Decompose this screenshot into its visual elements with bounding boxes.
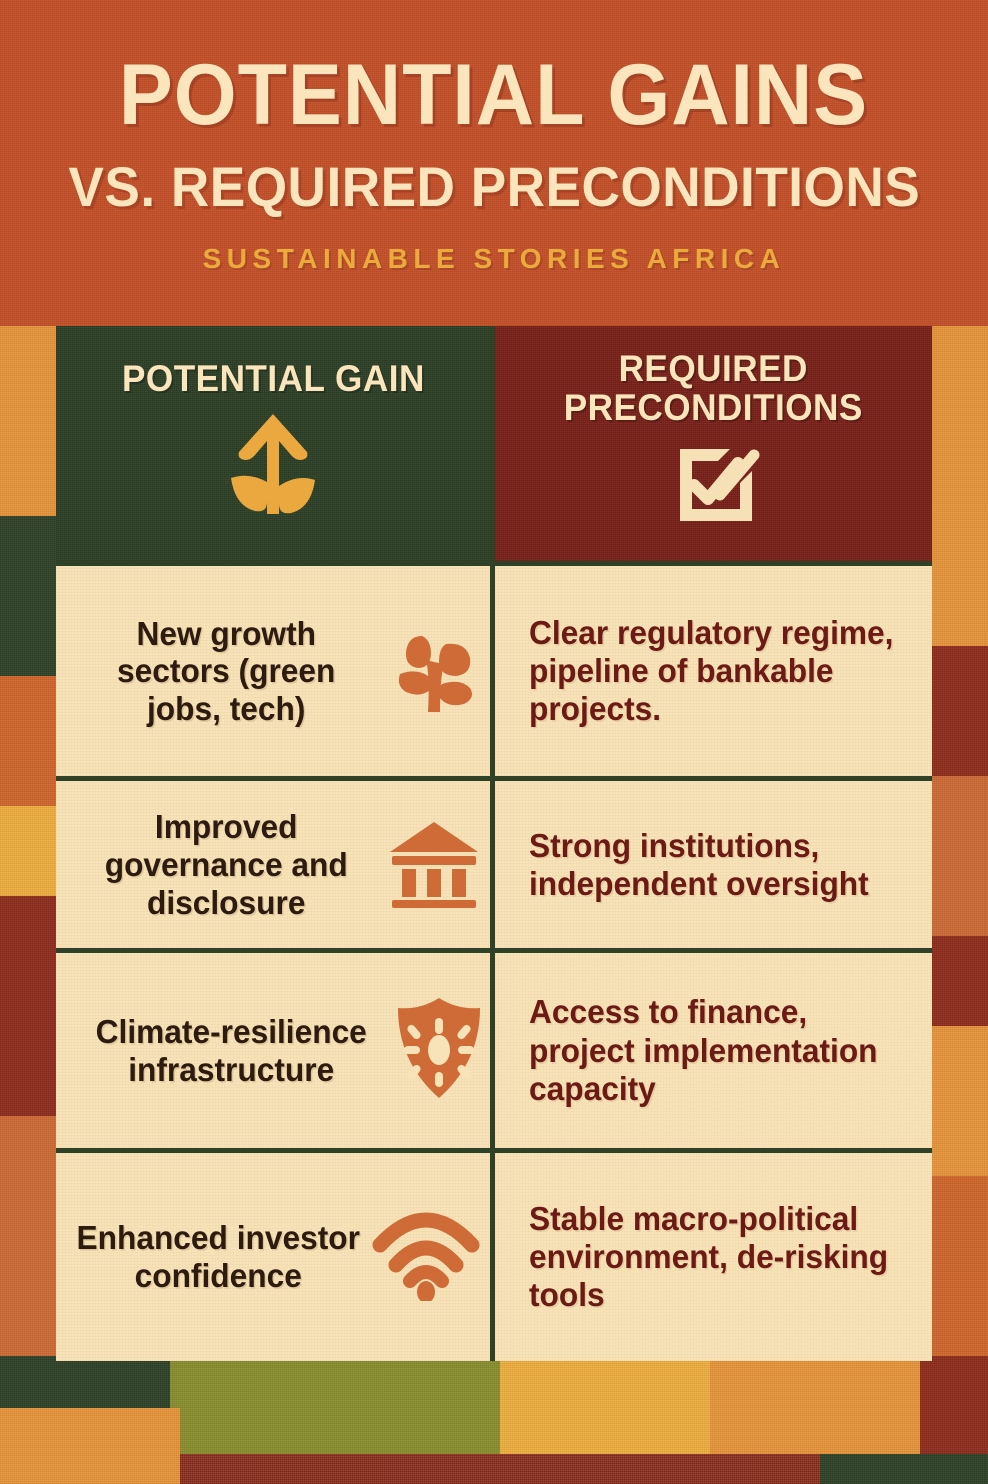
gain-cell: Climate-resilience infrastructure — [56, 953, 490, 1148]
page-title-line2: VS. REQUIRED PRECONDITIONS — [68, 159, 920, 215]
precondition-text: Stable macro-political environment, de-r… — [529, 1200, 902, 1315]
kente-tile — [932, 646, 988, 776]
kente-tile — [0, 516, 56, 676]
kente-tile — [932, 1176, 988, 1356]
gain-text: Improved governance and disclosure — [76, 808, 376, 921]
kente-tile — [0, 806, 56, 896]
comparison-table: POTENTIAL GAIN REQUIRED PRECONDITIONS — [56, 326, 932, 1361]
kente-tile — [0, 1116, 56, 1196]
kente-tile — [920, 1356, 988, 1454]
kente-tile — [180, 1454, 820, 1484]
checklist-checkbox-pencil-icon — [668, 439, 760, 536]
column-header-potential-gain: POTENTIAL GAIN — [56, 326, 491, 561]
kente-tile — [0, 326, 56, 516]
precondition-cell: Access to finance, project implementatio… — [495, 953, 932, 1148]
table-row: Climate-resilience infrastructure — [56, 953, 932, 1148]
kente-tile — [330, 1356, 500, 1454]
table-row: Enhanced investor confidence — [56, 1153, 932, 1361]
column-header-label: REQUIRED PRECONDITIONS — [506, 350, 921, 427]
growth-arrow-sprout-icon — [221, 410, 325, 527]
institution-bank-icon — [386, 816, 482, 913]
wifi-signal-icon — [370, 1209, 482, 1306]
precondition-cell: Clear regulatory regime, pipeline of ban… — [495, 566, 932, 777]
precondition-text: Clear regulatory regime, pipeline of ban… — [529, 614, 902, 729]
kente-tile — [0, 1408, 180, 1484]
kente-tile — [932, 936, 988, 1026]
kente-tile — [0, 1006, 56, 1116]
sprout-leaves-icon — [386, 620, 482, 721]
precondition-cell: Stable macro-political environment, de-r… — [495, 1153, 932, 1361]
kente-tile — [500, 1356, 710, 1454]
kente-tile — [170, 1356, 330, 1454]
kente-tile — [932, 326, 988, 396]
gain-cell: Improved governance and disclosure — [56, 781, 490, 948]
kente-tile — [0, 896, 56, 1006]
page-subtitle: SUSTAINABLE STORIES AFRICA — [203, 243, 786, 275]
kente-tile — [0, 1356, 60, 1408]
kente-tile — [932, 526, 988, 646]
kente-tile — [932, 1026, 988, 1176]
precondition-cell: Strong institutions, independent oversig… — [495, 781, 932, 948]
gain-cell: Enhanced investor confidence — [56, 1153, 490, 1361]
gain-text: New growth sectors (green jobs, tech) — [76, 615, 376, 728]
precondition-text: Strong institutions, independent oversig… — [529, 827, 902, 904]
gain-text: Enhanced investor confidence — [76, 1219, 361, 1294]
poster-header: POTENTIAL GAINS VS. REQUIRED PRECONDITIO… — [0, 0, 988, 326]
gain-text: Climate-resilience infrastructure — [76, 1013, 386, 1088]
kente-tile — [820, 1454, 988, 1484]
page-title-line1: POTENTIAL GAINS — [119, 55, 868, 137]
kente-tile — [932, 776, 988, 936]
gain-cell: New growth sectors (green jobs, tech) — [56, 566, 490, 777]
precondition-text: Access to finance, project implementatio… — [529, 993, 902, 1108]
kente-tile — [0, 1196, 56, 1356]
kente-tile — [710, 1356, 920, 1454]
kente-tile — [932, 396, 988, 526]
table-header-row: POTENTIAL GAIN REQUIRED PRECONDITIONS — [56, 326, 932, 561]
kente-tile — [0, 676, 56, 806]
infographic-poster: POTENTIAL GAINS VS. REQUIRED PRECONDITIO… — [0, 0, 988, 1484]
table-row: New growth sectors (green jobs, tech) — [56, 566, 932, 777]
table-row: Improved governance and disclosure — [56, 781, 932, 948]
column-header-required-preconditions: REQUIRED PRECONDITIONS — [495, 326, 932, 561]
shield-sun-icon — [396, 996, 482, 1105]
column-header-label: POTENTIAL GAIN — [122, 360, 425, 398]
